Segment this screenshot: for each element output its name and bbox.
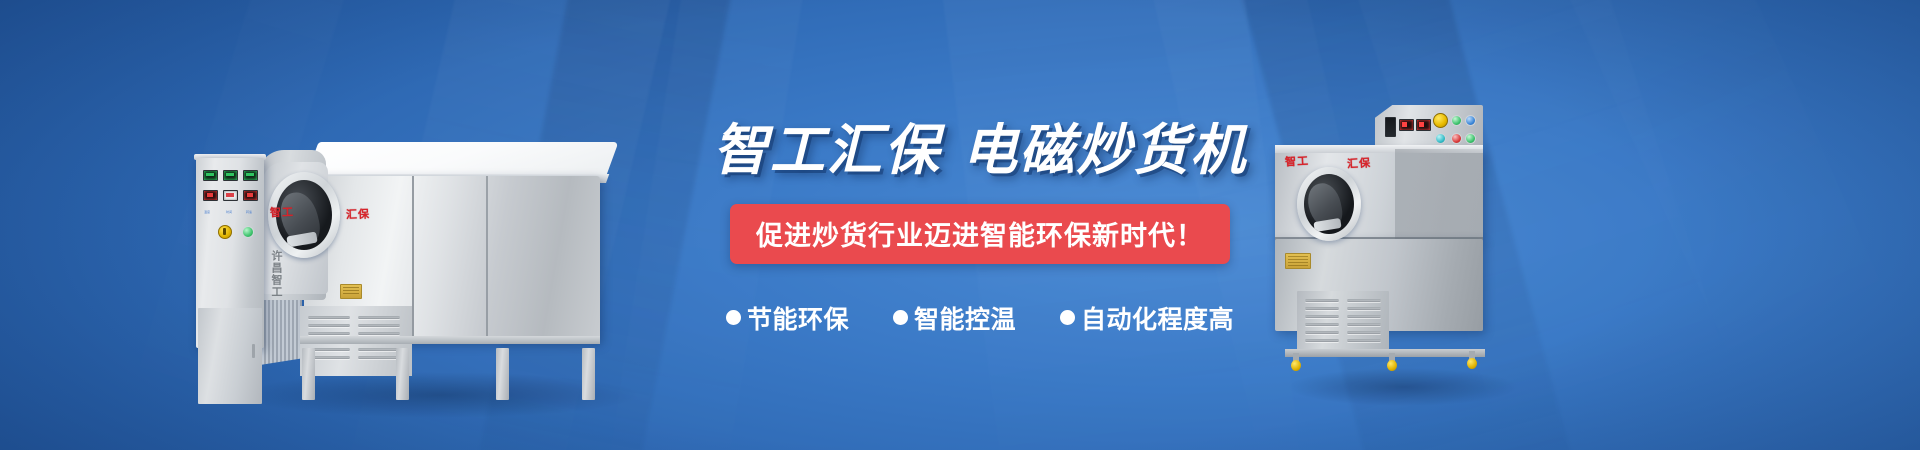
start-button — [242, 226, 254, 238]
caster-wheel-left — [1291, 353, 1301, 371]
caster-wheel-right — [1467, 351, 1477, 369]
machine-leg-4 — [582, 348, 595, 400]
bullet-dot-icon — [1060, 310, 1075, 325]
control-button-red — [1451, 133, 1462, 144]
machine-vertical-text: 许昌智工 — [268, 250, 282, 298]
machine-leg-3 — [496, 348, 509, 400]
tagline-badge-wrap: 促进炒货行业迈进智能环保新时代！ — [700, 204, 1260, 264]
brand-mark-right: 汇保 — [346, 206, 371, 223]
control-button-blue-1 — [1465, 115, 1476, 126]
feature-list: 节能环保 智能控温 自动化程度高 — [700, 300, 1260, 336]
control-button-green-2 — [1465, 133, 1476, 144]
cabinet-seam-a — [412, 176, 414, 342]
feature-label-3: 自动化程度高 — [1081, 300, 1234, 336]
led-display-green-1 — [203, 170, 218, 181]
brand-mark-right: 汇保 — [1347, 154, 1372, 171]
led-display-green-2 — [223, 170, 238, 181]
machine-legs — [300, 340, 600, 400]
machine-nameplate — [1285, 253, 1311, 269]
led-display-green-3 — [243, 170, 258, 181]
feature-item-2: 智能控温 — [893, 300, 1016, 336]
control-display-red-1 — [1399, 119, 1414, 131]
product-image-left-roaster: 智工 汇保 温度 时间 转速 许昌智工 — [196, 100, 656, 400]
banner-copy: 智工汇保 电磁炒货机 促进炒货行业迈进智能环保新时代！ 节能环保 智能控温 自动… — [700, 120, 1260, 336]
control-display-red-2 — [1416, 119, 1431, 131]
machine-leg-1 — [302, 348, 315, 400]
emergency-stop-button — [1433, 113, 1448, 128]
feature-label-1: 节能环保 — [747, 300, 849, 336]
panel-label-3: 转速 — [246, 210, 252, 214]
emergency-stop-knob — [218, 225, 232, 239]
led-display-red-2 — [223, 190, 238, 201]
caster-wheel-mid — [1387, 353, 1397, 371]
brand-mark-left: 智工 — [1285, 152, 1310, 169]
panel-label-2: 时间 — [226, 210, 232, 214]
product-image-right-roaster: 智工 汇保 — [1275, 105, 1525, 405]
control-button-cyan — [1435, 133, 1446, 144]
machine-leg-2 — [396, 348, 409, 400]
feature-label-2: 智能控温 — [914, 300, 1016, 336]
machine-nameplate — [340, 284, 362, 299]
promo-banner: 智工 汇保 温度 时间 转速 许昌智工 — [0, 0, 1920, 450]
led-display-red-3 — [243, 190, 258, 201]
control-pillar: 温度 时间 转速 — [196, 158, 264, 348]
brand-mark-left: 智工 — [270, 204, 295, 221]
control-pillar-handle — [252, 344, 255, 358]
control-display-dark — [1385, 117, 1396, 137]
led-display-red-1 — [203, 190, 218, 201]
control-button-green-1 — [1451, 115, 1462, 126]
feature-item-1: 节能环保 — [726, 300, 849, 336]
bullet-dot-icon — [893, 310, 908, 325]
page-title: 智工汇保 电磁炒货机 — [700, 120, 1260, 182]
bullet-dot-icon — [726, 310, 741, 325]
drum-opening — [1304, 174, 1354, 234]
feature-item-3: 自动化程度高 — [1060, 300, 1234, 336]
machine-vent-panel — [1297, 291, 1389, 353]
machine-base-bar — [1285, 349, 1485, 357]
panel-label-1: 温度 — [204, 210, 210, 214]
tagline-badge: 促进炒货行业迈进智能环保新时代！ — [730, 204, 1230, 264]
cabinet-seam-b — [486, 176, 488, 342]
